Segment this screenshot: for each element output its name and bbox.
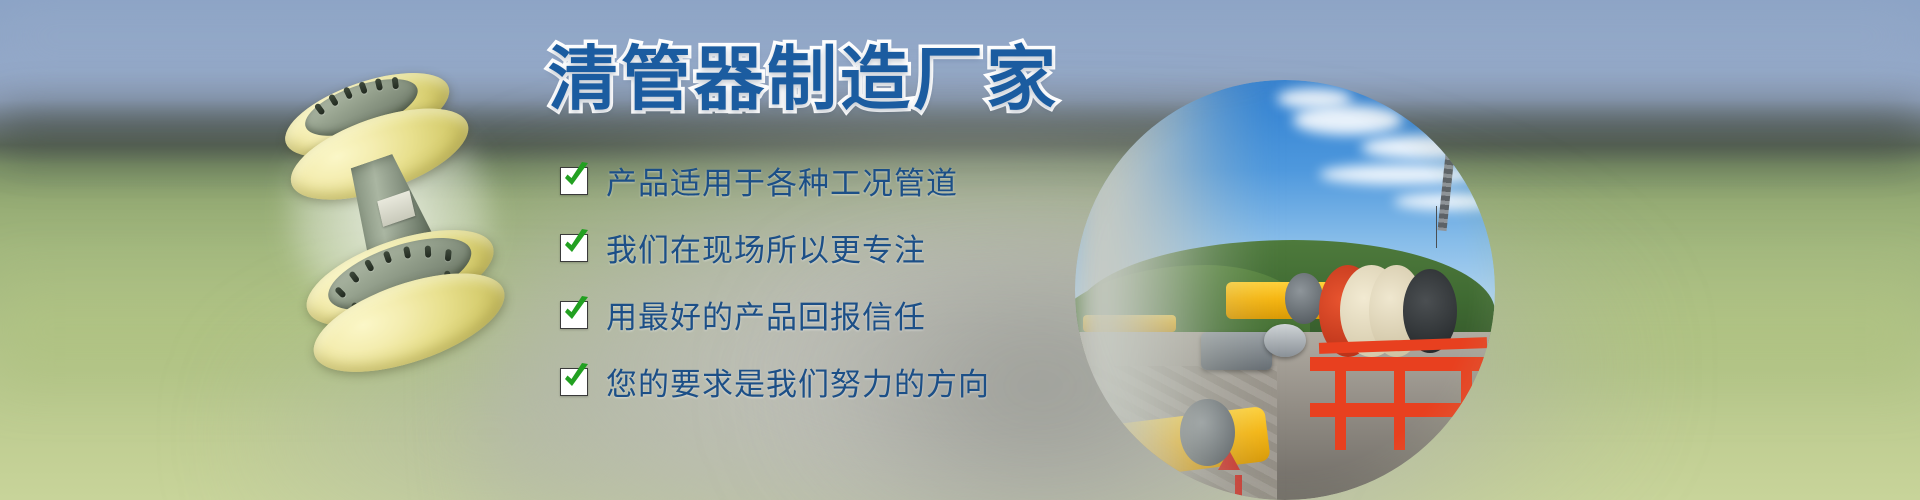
banner-headline: 清管器制造厂家 [548,44,1059,114]
check-box-icon [560,368,588,396]
photo-frame-leg-2 [1394,357,1405,449]
photo-crane-hook [1436,206,1437,248]
checklist-item-label: 产品适用于各种工况管道 [606,158,958,203]
checklist-item: 产品适用于各种工况管道 [560,158,990,203]
photo-valve-wheel [1264,324,1306,358]
promo-banner: 清管器制造厂家 产品适用于各种工况管道 我们在现场所以更专注 [0,0,1920,500]
checklist-item: 我们在现场所以更专注 [560,225,990,270]
feature-checklist: 产品适用于各种工况管道 我们在现场所以更专注 用最好的产品回报信任 [560,158,990,404]
check-box-icon [560,301,588,329]
checklist-item: 您的要求是我们努力的方向 [560,359,990,404]
photo-frame-leg-1 [1335,357,1346,449]
photo-frame-leg-3 [1461,357,1472,449]
check-box-icon [560,234,588,262]
photo-left-fade [1075,80,1268,500]
checklist-item-label: 用最好的产品回报信任 [606,292,926,337]
pipeline-station-photo [1075,80,1495,500]
photo-flange-upper [1285,273,1323,323]
check-box-icon [560,167,588,195]
checklist-item-label: 您的要求是我们努力的方向 [606,359,990,404]
checklist-item-label: 我们在现场所以更专注 [606,225,926,270]
checklist-item: 用最好的产品回报信任 [560,292,990,337]
